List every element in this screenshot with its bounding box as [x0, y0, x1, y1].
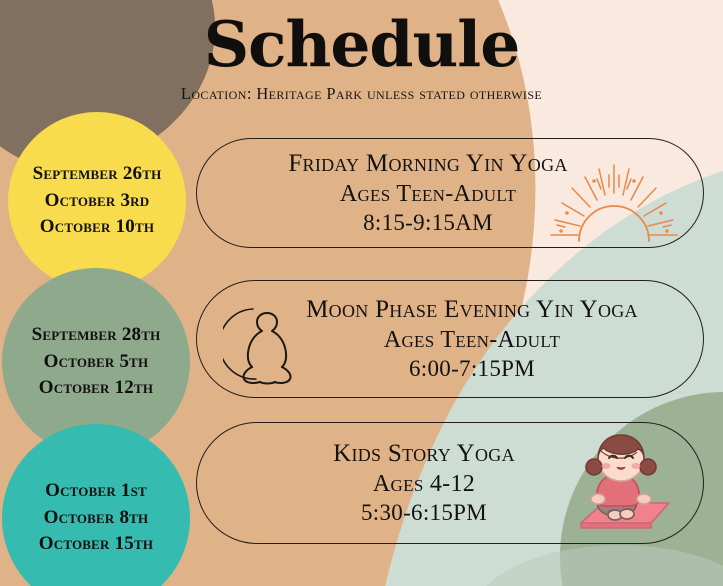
- class-title: Kids Story Yoga: [333, 438, 515, 470]
- class-time: 8:15-9:15AM: [288, 209, 567, 238]
- date-line: September 26th: [33, 161, 162, 188]
- class-time: 5:30-6:15PM: [333, 499, 515, 528]
- class-title: Moon Phase Evening Yin Yoga: [306, 294, 638, 326]
- location-subtitle: Location: Heritage Park unless stated ot…: [0, 84, 723, 104]
- class-ages: Ages Teen-Adult: [306, 325, 638, 355]
- meditating-person-icon: [223, 299, 309, 391]
- class-card-text: Kids Story Yoga Ages 4-12 5:30-6:15PM: [333, 438, 515, 529]
- class-card-text: Moon Phase Evening Yin Yoga Ages Teen-Ad…: [306, 294, 638, 385]
- class-card-1: Friday Morning Yin Yoga Ages Teen-Adult …: [196, 138, 704, 248]
- date-line: September 28th: [32, 322, 161, 349]
- class-card-text: Friday Morning Yin Yoga Ages Teen-Adult …: [288, 148, 567, 239]
- date-line: October 10th: [40, 214, 154, 241]
- date-line: October 12th: [39, 375, 153, 402]
- page-title: Schedule: [0, 12, 723, 76]
- kid-yoga-illustration: [573, 427, 677, 539]
- class-time: 6:00-7:15PM: [306, 355, 638, 384]
- class-title: Friday Morning Yin Yoga: [288, 148, 567, 180]
- date-line: October 8th: [44, 505, 149, 532]
- date-line: October 5th: [44, 349, 149, 376]
- poster-header: Schedule Location: Heritage Park unless …: [0, 12, 723, 104]
- date-line: October 15th: [39, 531, 153, 558]
- date-line: October 3rd: [45, 188, 150, 215]
- schedule-poster: Schedule Location: Heritage Park unless …: [0, 0, 723, 586]
- class-ages: Ages 4-12: [333, 469, 515, 499]
- class-card-3: Kids Story Yoga Ages 4-12 5:30-6:15PM: [196, 422, 704, 544]
- class-ages: Ages Teen-Adult: [288, 179, 567, 209]
- class-card-2: Moon Phase Evening Yin Yoga Ages Teen-Ad…: [196, 280, 704, 398]
- date-circle-1: September 26th October 3rd October 10th: [8, 112, 186, 290]
- date-line: October 1st: [45, 478, 147, 505]
